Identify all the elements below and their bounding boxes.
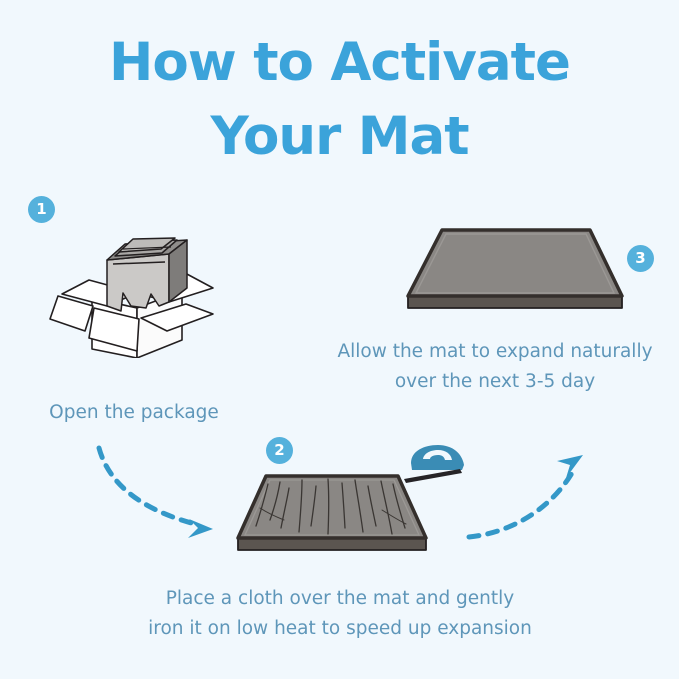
flat-mat-icon (400, 218, 630, 328)
step-3-caption: Allow the mat to expand naturally over t… (311, 337, 679, 397)
iron-icon (398, 441, 470, 489)
infographic-canvas: How to Activate Your Mat 1 (0, 0, 679, 679)
step-1-caption: Open the package (0, 398, 268, 428)
wrinkled-mat-icon (232, 468, 432, 568)
arrow-step1-to-step2-icon (95, 443, 225, 543)
arrow-step2-to-step3-icon (465, 445, 600, 545)
step-badge-2: 2 (266, 437, 293, 464)
caption-line: over the next 3-5 day (311, 367, 679, 397)
step-badge-3: 3 (627, 245, 654, 272)
caption-line: Allow the mat to expand naturally (311, 337, 679, 367)
title-line-1: How to Activate (0, 26, 679, 100)
caption-line: Place a cloth over the mat and gently (60, 584, 620, 614)
caption-line: Open the package (0, 398, 268, 428)
caption-line: iron it on low heat to speed up expansio… (60, 614, 620, 644)
step-2-caption: Place a cloth over the mat and gently ir… (60, 584, 620, 644)
open-box-icon (45, 218, 225, 358)
title-line-2: Your Mat (0, 100, 679, 174)
page-title: How to Activate Your Mat (0, 26, 679, 174)
step-badge-1: 1 (28, 196, 55, 223)
